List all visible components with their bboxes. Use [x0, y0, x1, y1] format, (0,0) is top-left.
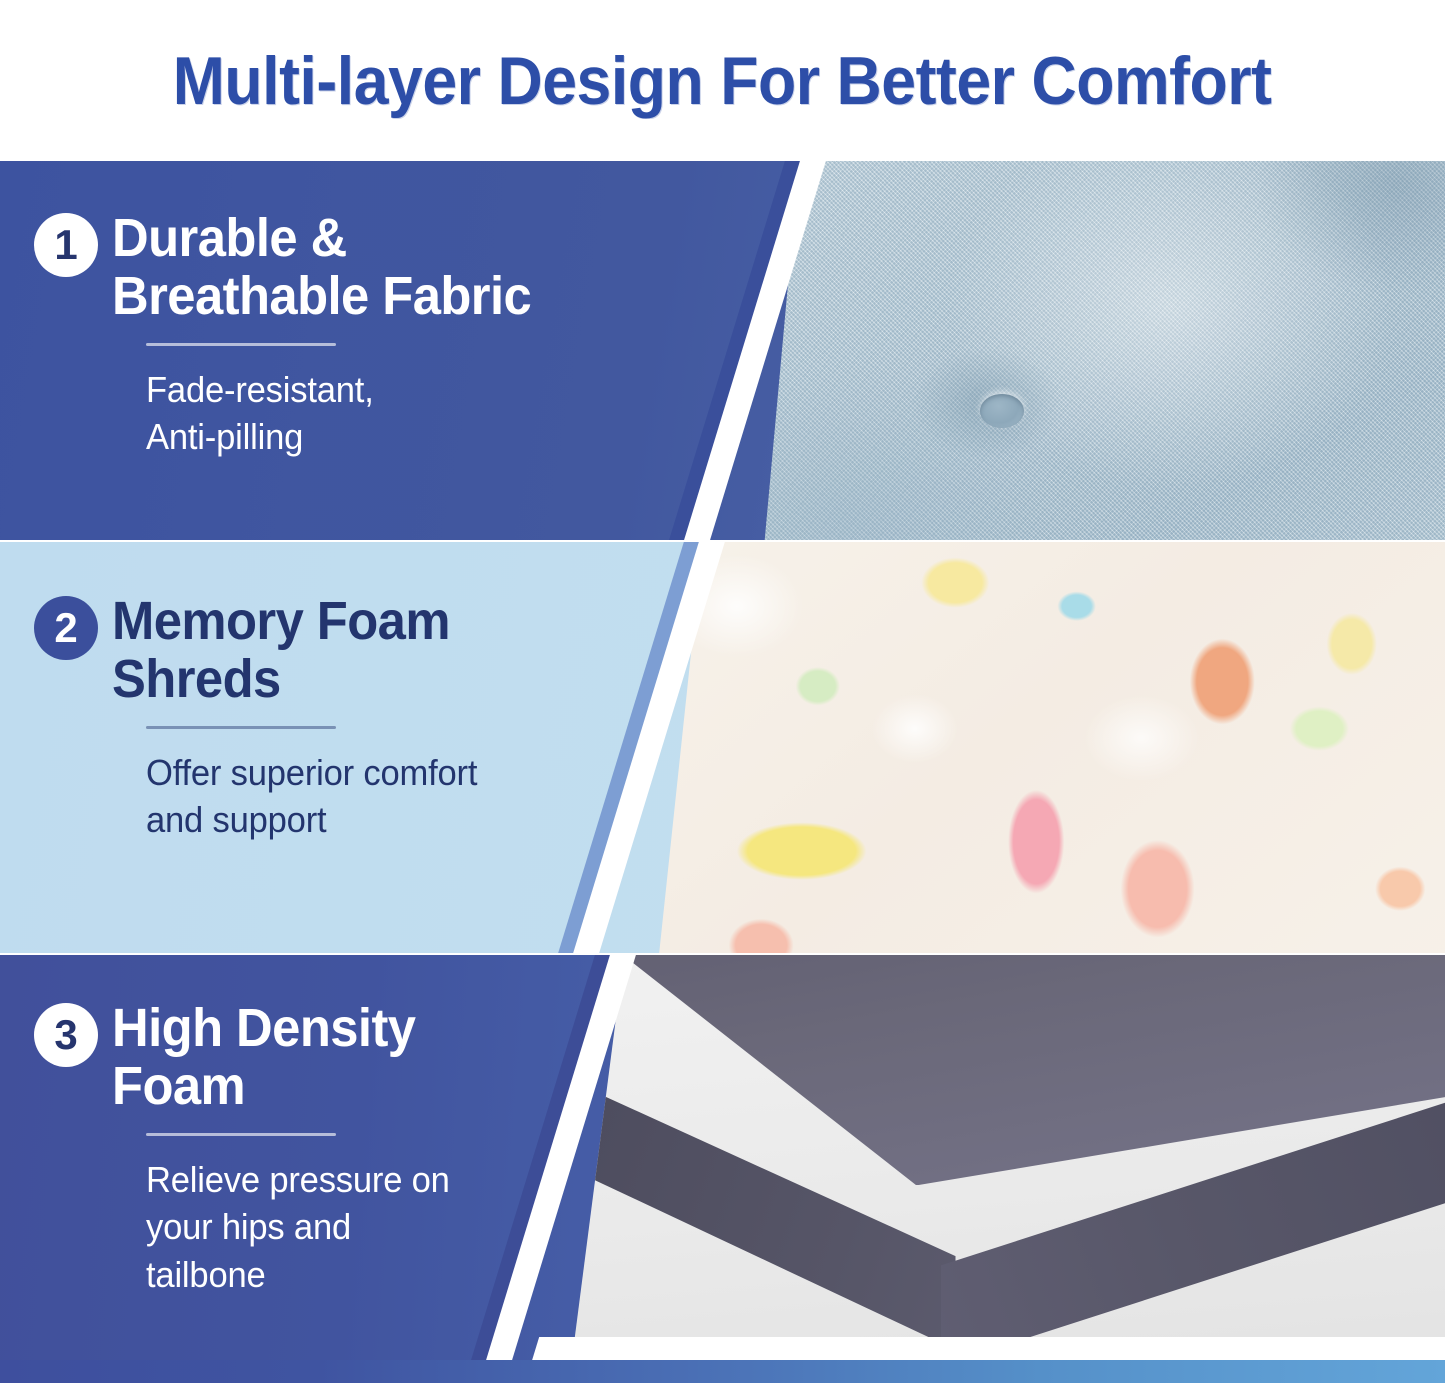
step-number-badge-1: 1	[34, 213, 98, 277]
panel-2-copy: 2 Memory Foam Shreds Offer superior comf…	[34, 592, 491, 844]
panel-2-subtext: Offer superior comfort and support	[146, 749, 477, 844]
panel-1-divider-rule	[146, 343, 336, 346]
panel-2-divider-rule	[146, 726, 336, 729]
multi-layer-design-infographic: Multi-layer Design For Better Comfort 1 …	[0, 0, 1445, 1383]
panel-2-heading: Memory Foam Shreds	[112, 592, 450, 709]
step-number-badge-2: 2	[34, 596, 98, 660]
panel-3-subtext: Relieve pressure on your hips and tailbo…	[146, 1156, 450, 1299]
grey-high-density-foam-block-photo	[568, 955, 1445, 1360]
step-number-badge-3: 3	[34, 1003, 98, 1067]
blue-linen-tufted-cushion-photo	[762, 161, 1445, 540]
title-bar: Multi-layer Design For Better Comfort	[0, 0, 1445, 161]
panel-1-copy: 1 Durable & Breathable Fabric Fade-resis…	[34, 209, 558, 461]
panel-1-heading-row: 1 Durable & Breathable Fabric	[34, 209, 558, 326]
panel-3-divider-rule	[146, 1133, 336, 1136]
fabric-weave-texture	[762, 161, 1445, 540]
feature-panel-1: 1 Durable & Breathable Fabric Fade-resis…	[0, 161, 1445, 540]
feature-panel-2: 2 Memory Foam Shreds Offer superior comf…	[0, 542, 1445, 953]
pastel-memory-foam-shreds-photo	[656, 542, 1445, 953]
panel-2-heading-row: 2 Memory Foam Shreds	[34, 592, 491, 709]
page-title: Multi-layer Design For Better Comfort	[173, 47, 1272, 115]
panel-3-heading-row: 3 High Density Foam	[34, 999, 462, 1116]
panel-1-subtext: Fade-resistant, Anti-pilling	[146, 366, 541, 461]
panel-1-heading: Durable & Breathable Fabric	[112, 209, 531, 326]
feature-panel-3: 3 High Density Foam Relieve pressure on …	[0, 955, 1445, 1360]
foam-shreds-texture	[656, 542, 1445, 953]
panel-3-heading: High Density Foam	[112, 999, 415, 1116]
bottom-accent-strip	[0, 1360, 1445, 1383]
panel-3-copy: 3 High Density Foam Relieve pressure on …	[34, 999, 462, 1298]
